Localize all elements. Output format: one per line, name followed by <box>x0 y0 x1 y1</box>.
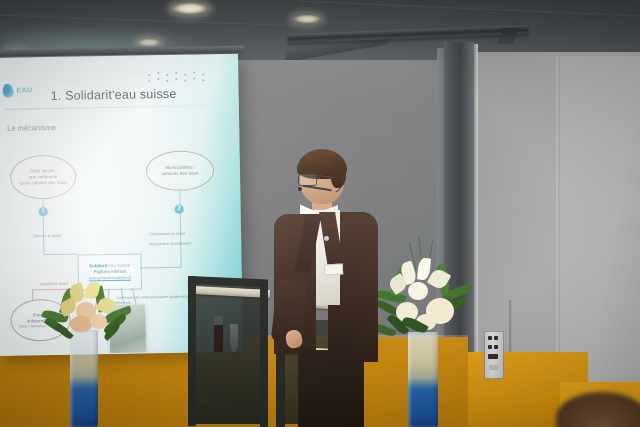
switch-icon <box>488 336 492 340</box>
switch-icon <box>488 354 498 359</box>
wall-switch-plate[interactable] <box>484 331 504 379</box>
diagram-oval-left: ONG suisse, une commune ou un service de… <box>10 155 77 200</box>
vase-left <box>70 330 98 427</box>
water-droplet-icon <box>1 83 14 99</box>
slide-brand-logo: EAU <box>2 83 32 98</box>
slide-title-rule <box>5 105 223 110</box>
glasses-icon <box>298 174 317 186</box>
trousers <box>298 350 364 427</box>
ceiling-downlight <box>136 38 162 47</box>
dotted-grid-logo-icon <box>146 70 216 87</box>
connector-line <box>140 267 182 269</box>
lectern-post <box>188 276 196 426</box>
connector-line <box>43 254 77 256</box>
water-bottle <box>214 316 223 352</box>
caption-choose-project: Choisissent un projet <box>149 231 185 237</box>
outlet-icon <box>489 365 498 370</box>
vase-right <box>408 332 438 427</box>
ceiling-downlight <box>170 2 210 15</box>
connector-line-red <box>32 289 33 301</box>
floral-arrangement-right <box>372 236 476 340</box>
diagram-marker-2: 2 <box>175 205 184 214</box>
name-badge <box>324 264 344 276</box>
lectern-glass-panel <box>192 284 266 424</box>
slide-brand-label: EAU <box>17 87 33 94</box>
switch-icon <box>494 345 498 349</box>
diagram-marker-1: 1 <box>39 207 48 216</box>
wall-panel-seam <box>556 56 558 386</box>
slide-subtitle: Le mécanisme <box>7 123 56 133</box>
speaker <box>276 152 380 427</box>
headset-capsule-icon <box>298 187 302 191</box>
wall-panel-far-right <box>560 56 640 386</box>
slide-title: 1. Solidarit'eau suisse <box>51 87 177 103</box>
drinking-glass <box>230 324 238 352</box>
switch-icon <box>488 345 492 349</box>
floral-arrangement-left <box>40 282 136 344</box>
lectern-post <box>260 280 268 427</box>
lapel-pin-icon <box>324 236 329 241</box>
caption-finance-it: financent et soutiennent <box>149 241 190 248</box>
ceiling-downlight <box>292 14 322 24</box>
switch-icon <box>494 336 498 340</box>
presentation-photo-scene: EAU 1. Solidarit'eau suisse Le mécanisme… <box>0 0 640 427</box>
diagram-oval-right: Municipalités / services des eaux <box>146 150 215 191</box>
connector-line <box>179 189 181 267</box>
glasses-bridge-icon <box>314 177 320 178</box>
caption-deposit-project: Dépose le projet <box>33 233 61 239</box>
